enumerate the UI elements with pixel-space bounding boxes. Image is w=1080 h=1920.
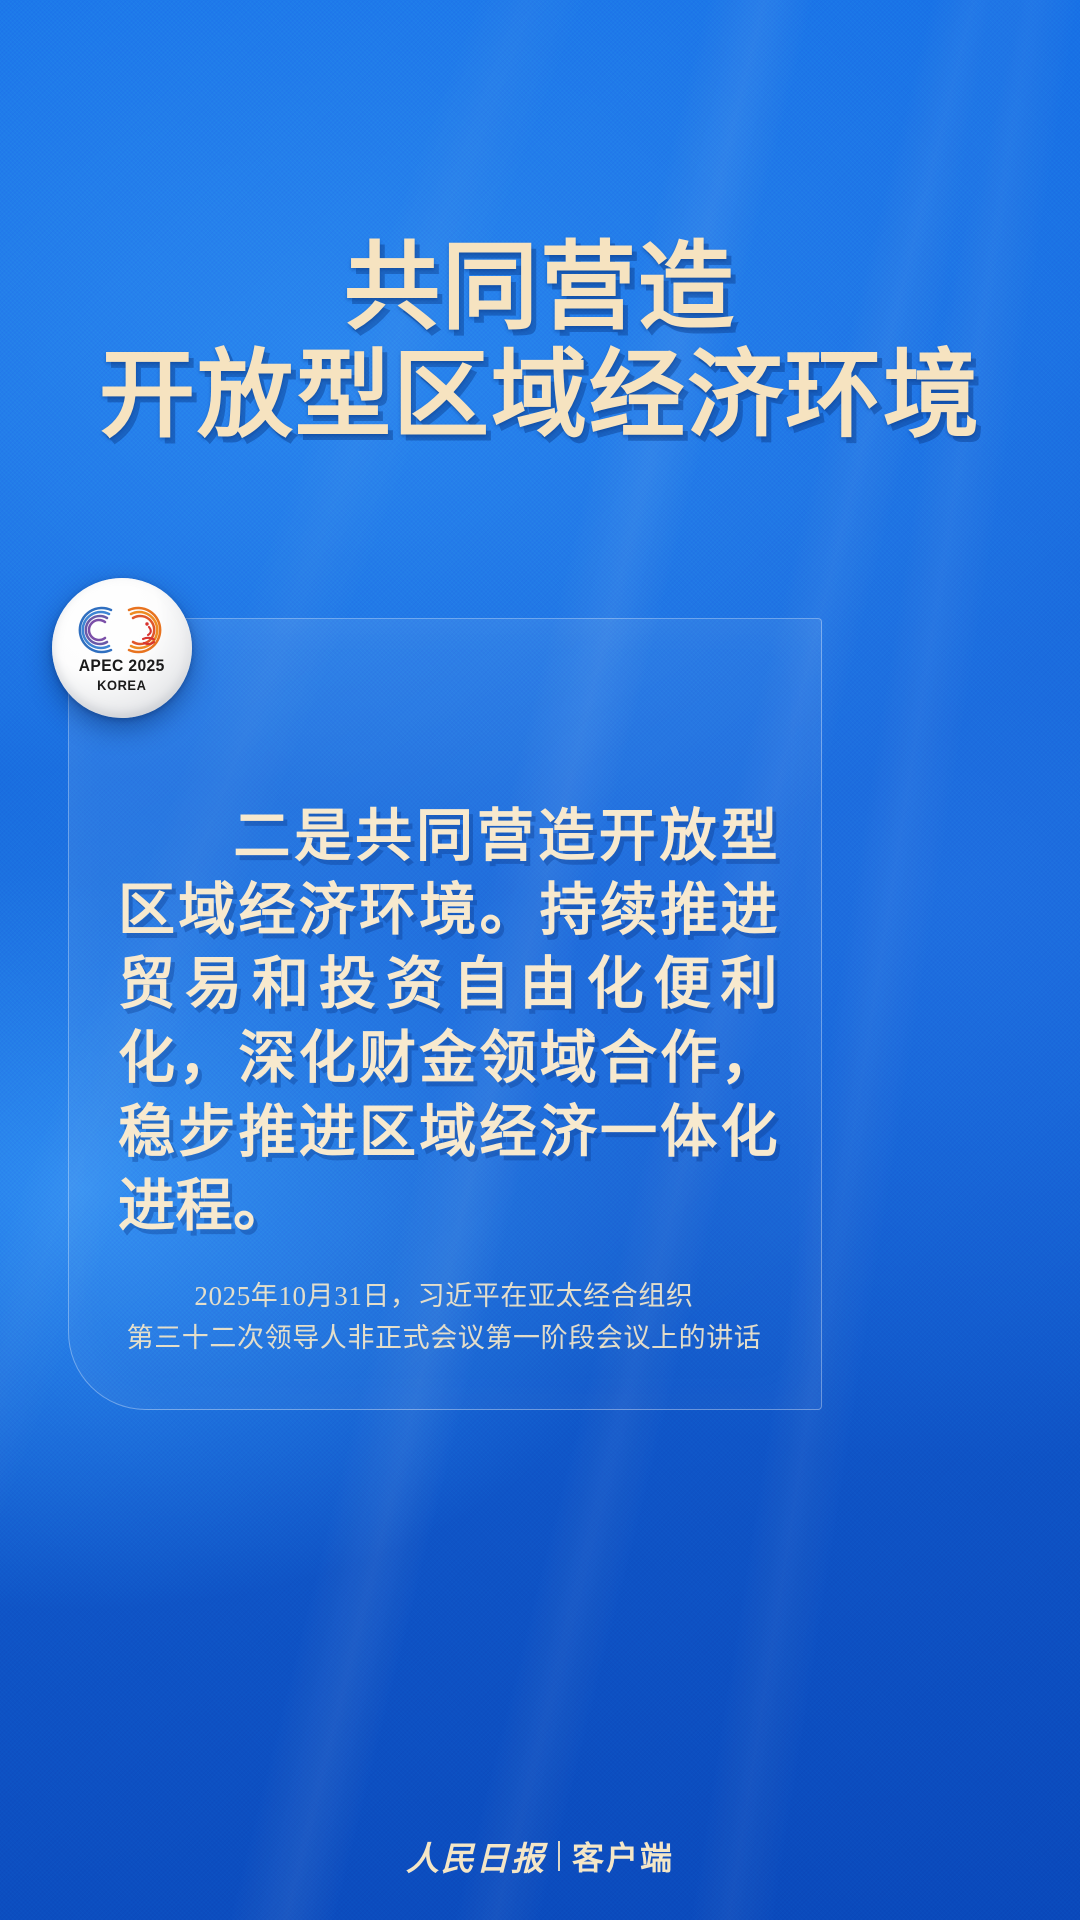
page-title-line-1: 共同营造 xyxy=(0,236,1080,340)
citation-line-2: 第三十二次领导人非正式会议第一阶段会议上的讲话 xyxy=(68,1318,820,1360)
page-title-line-2: 开放型区域经济环境 xyxy=(0,344,1080,448)
badge-bottom-label: KOREA xyxy=(97,678,146,692)
footer-brand: 人民日报 客户端 xyxy=(0,1832,1080,1880)
badge-top-label: APEC 2025 xyxy=(79,657,165,674)
poster-root: 共同营造 开放型区域经济环境 APEC 2025 xyxy=(0,0,1080,1920)
quote-body: 二是共同营造开放型区域经济环境。持续推进贸易和投资自由化便利化，深化财金领域合作… xyxy=(118,805,778,1238)
citation: 2025年10月31日，习近平在亚太经合组织 第三十二次领导人非正式会议第一阶段… xyxy=(68,1276,820,1360)
apec-badge: APEC 2025 KOREA xyxy=(52,578,192,718)
apec-face-arcs-logo-icon xyxy=(74,604,170,656)
brand-separator xyxy=(558,1841,560,1871)
citation-line-1: 2025年10月31日，习近平在亚太经合组织 xyxy=(68,1276,820,1318)
page-title: 共同营造 开放型区域经济环境 xyxy=(0,236,1080,447)
quote-text: 二是共同营造开放型区域经济环境。持续推进贸易和投资自由化便利化，深化财金领域合作… xyxy=(118,800,778,1245)
publisher-name: 人民日报 xyxy=(406,1832,546,1880)
product-name: 客户端 xyxy=(572,1833,674,1879)
